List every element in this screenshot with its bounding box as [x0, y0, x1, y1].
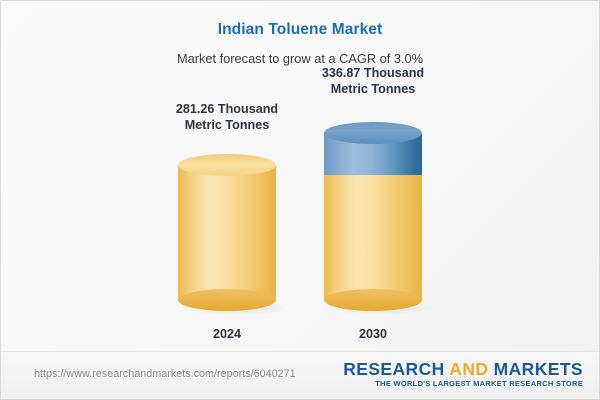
cylinder-bottom-cap-2024: [178, 289, 276, 311]
cylinder-body-gold-2024: [178, 165, 276, 300]
cylinder-2024[interactable]: [178, 154, 276, 311]
research-and-markets-logo[interactable]: RESEARCH AND MARKETS THE WORLD'S LARGEST…: [343, 360, 583, 389]
logo-wordmark: RESEARCH AND MARKETS: [343, 360, 583, 379]
chart-card: Indian Toluene Market Market forecast to…: [0, 0, 600, 400]
footer: https://www.researchandmarkets.com/repor…: [1, 351, 600, 399]
axis-label-2030: 2030: [313, 327, 433, 341]
cylinder-top-cap-2030: [324, 122, 422, 144]
logo-tagline: THE WORLD'S LARGEST MARKET RESEARCH STOR…: [343, 379, 583, 389]
logo-word-research: RESEARCH: [343, 359, 444, 379]
cylinder-body-gold-2030: [324, 164, 422, 300]
axis-label-2024: 2024: [167, 327, 287, 341]
bar-data-label-2024: 281.26 Thousand Metric Tonnes: [142, 101, 312, 133]
bar-data-label-2030: 336.87 Thousand Metric Tonnes: [288, 65, 458, 97]
report-url[interactable]: https://www.researchandmarkets.com/repor…: [34, 368, 296, 380]
cylinder-2030[interactable]: [324, 122, 422, 311]
cylinder-top-cap-2024: [178, 154, 276, 176]
plot-area: 281.26 Thousand Metric Tonnes 2024 336.8…: [1, 1, 600, 353]
cylinder-bottom-cap-2030: [324, 289, 422, 311]
logo-word-markets: MARKETS: [494, 359, 583, 379]
logo-word-and: AND: [449, 359, 488, 379]
